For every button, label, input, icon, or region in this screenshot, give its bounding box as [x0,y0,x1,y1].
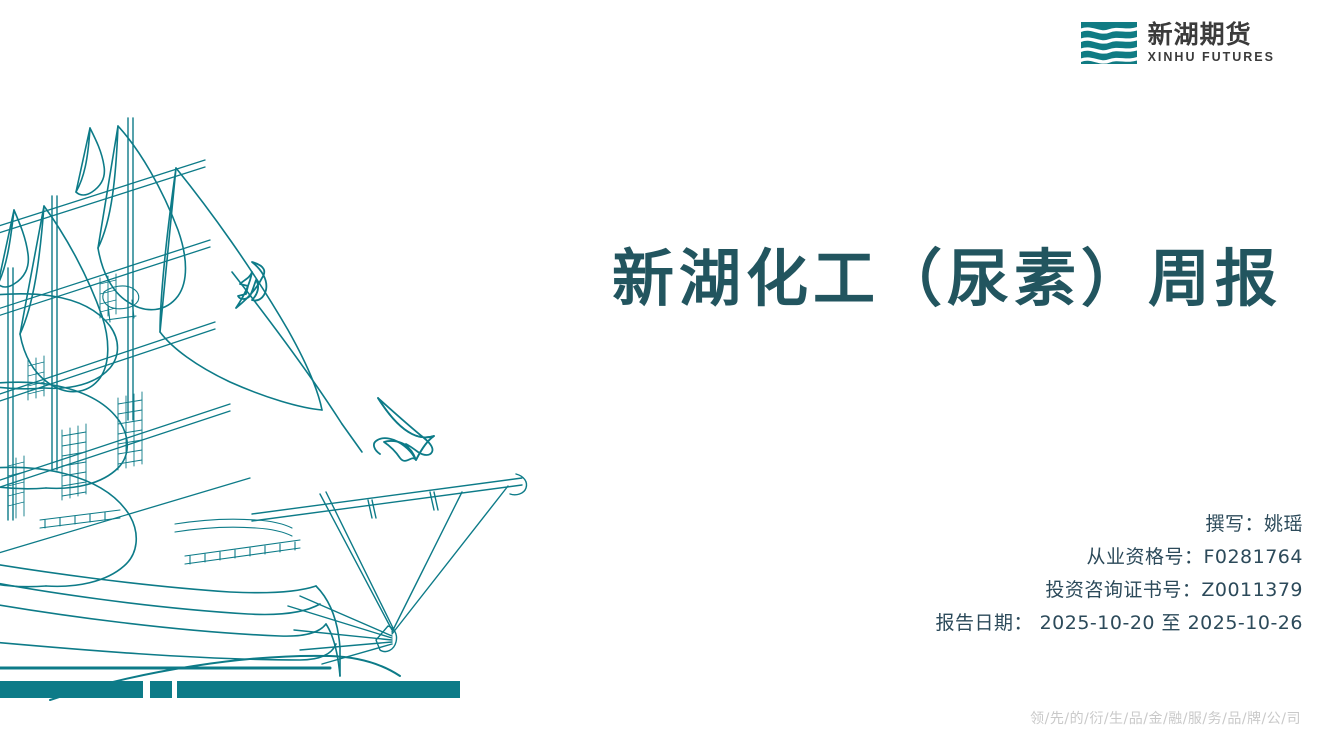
ship-hull [0,560,400,700]
ship-jib-sails [160,168,362,452]
ship-bowsprit [252,474,527,664]
brand-logo: 新湖期货 XINHU FUTURES [1081,22,1275,64]
meta-report-date: 报告日期： 2025-10-20 至 2025-10-26 [936,607,1303,640]
ship-masts [8,118,133,520]
footer-slogan: 领/先/的/衍/生/品/金/融/服/务/品/牌/公/司 [1030,708,1301,728]
ship-crows-nest [103,286,139,322]
ship-sails-upper [0,126,186,392]
brand-name-en: XINHU FUTURES [1148,51,1275,64]
ship-sails-middle [0,294,136,587]
accent-bar-segment [150,681,172,698]
ship-ratlines [8,274,142,520]
accent-bar-segment [0,681,143,698]
meta-qualification: 从业资格号：F0281764 [936,541,1303,574]
report-cover-slide: 新湖期货 XINHU FUTURES 新湖化工（尿素）周报 撰写：姚瑶 从业资格… [0,0,1333,750]
brand-name-cn: 新湖期货 [1148,22,1275,47]
ship-deck-details [40,510,300,564]
accent-bar [0,681,460,698]
ship-spars [0,160,250,560]
accent-bar-segment [177,681,460,698]
seagull-small-icon [236,262,266,308]
meta-consulting-license: 投资咨询证书号：Z0011379 [936,574,1303,607]
report-meta: 撰写：姚瑶 从业资格号：F0281764 投资咨询证书号：Z0011379 报告… [936,508,1303,640]
page-title: 新湖化工（尿素）周报 [612,228,1312,318]
seagull-large-icon [374,398,434,461]
sailing-ship-line-art [0,0,560,750]
brand-wordmark: 新湖期货 XINHU FUTURES [1148,22,1275,64]
meta-author: 撰写：姚瑶 [936,508,1303,541]
xinhu-wave-mark [1081,22,1137,64]
